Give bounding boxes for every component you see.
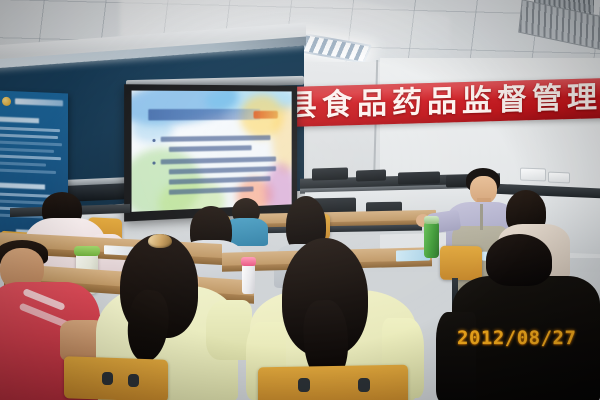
- attendee-black-tee-hair: [486, 234, 552, 286]
- camera-date-stamp: 2012/08/27: [457, 327, 576, 349]
- poster-text-line: [0, 162, 46, 167]
- projected-slide: [132, 91, 292, 212]
- wall-instrument-box: [548, 172, 570, 184]
- slide-title-accent: [254, 111, 278, 119]
- chair-slot: [128, 374, 139, 387]
- slide-title-line: [148, 109, 260, 121]
- poster-text-line: [0, 141, 62, 147]
- chair: [64, 356, 168, 400]
- thermos-cup-lid: [74, 246, 100, 256]
- chair: [258, 365, 408, 400]
- photograph: 翔县食品药品监督管理局: [0, 0, 600, 400]
- lab-equipment: [356, 169, 386, 181]
- poster-section-heading: [0, 117, 39, 124]
- presenter-apron-strap: [474, 204, 496, 230]
- poster-headline: [15, 98, 63, 106]
- green-bottle-cap: [424, 216, 439, 224]
- lab-equipment: [398, 171, 440, 184]
- poster-text-line: [0, 155, 61, 161]
- slide-bullet-line: [161, 135, 271, 142]
- slide-bullet-line: [169, 145, 252, 152]
- chair-slot: [298, 378, 310, 392]
- wall-instrument-box: [520, 168, 546, 182]
- poster-text-line: [0, 127, 60, 133]
- chair: [440, 246, 482, 281]
- green-bottle: [424, 222, 439, 258]
- chair-slot: [102, 372, 113, 385]
- poster-text-line: [0, 134, 58, 140]
- poster-logo-icon: [2, 97, 11, 106]
- hair-clip: [148, 234, 172, 248]
- projector-screen: [124, 84, 297, 221]
- poster-section-heading: [0, 183, 45, 190]
- poster-text-line: [0, 169, 56, 174]
- lab-equipment: [312, 167, 348, 180]
- pink-bottle-cap: [241, 257, 256, 266]
- attendee-black-tee-arm: [436, 312, 476, 400]
- pink-cap-bottle: [242, 264, 255, 294]
- poster-text-line: [0, 148, 54, 153]
- chair-slot: [358, 378, 370, 392]
